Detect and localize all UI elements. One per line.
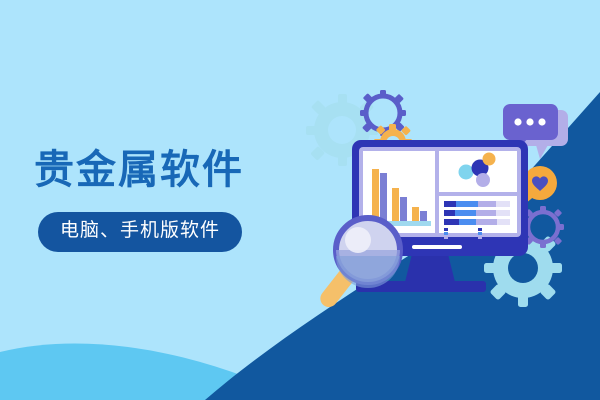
bar-purple-1 (380, 173, 387, 221)
circle-light-purple (476, 173, 490, 187)
bar-orange-2 (392, 188, 399, 221)
bubble-dot-3 (538, 118, 545, 125)
promo-banner: 贵金属软件 电脑、手机版软件 (0, 0, 600, 400)
progress-row-2 (444, 210, 510, 216)
monitor-chin-line (412, 245, 462, 249)
text-block: 贵金属软件 电脑、手机版软件 (34, 148, 324, 252)
bubble-dot-1 (514, 118, 521, 125)
speech-bubble-heart-icon (523, 166, 557, 204)
progress-row-1 (444, 201, 510, 207)
bubble-dot-2 (526, 118, 533, 125)
subtitle-pill-badge: 电脑、手机版软件 (38, 212, 242, 252)
circle-light-blue (459, 165, 474, 180)
page-title: 贵金属软件 (34, 148, 324, 193)
magnifier-icon (317, 218, 400, 310)
gear-purple-outline-right-icon (522, 206, 564, 248)
bar-purple-3 (420, 211, 427, 221)
bar-orange-1 (372, 169, 379, 221)
bar-purple-2 (400, 197, 407, 221)
progress-row-3 (444, 219, 510, 225)
circle-orange (483, 153, 496, 166)
magnifier-glint (345, 227, 371, 253)
bar-orange-3 (412, 207, 419, 221)
